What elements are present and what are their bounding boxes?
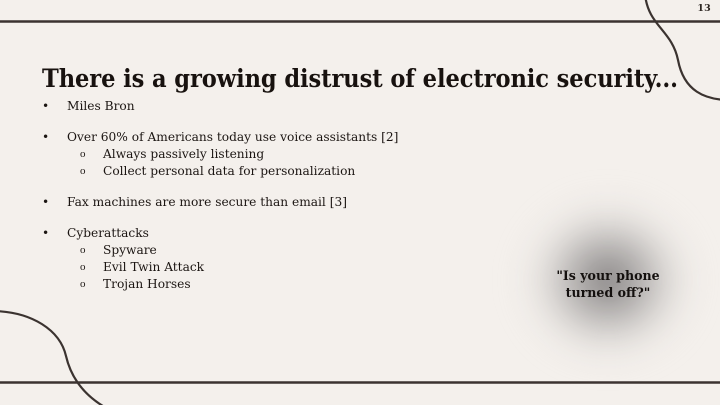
sub-bullet-marker-icon: o	[80, 242, 92, 259]
sub-list-item: o Trojan Horses	[0, 276, 520, 293]
list-item-label: Over 60% of Americans today use voice as…	[67, 130, 398, 144]
sub-list-item-label: Collect personal data for personalizatio…	[103, 164, 355, 178]
list-item-label: Miles Bron	[67, 99, 135, 113]
quote-graphic: "Is your phone turned off?"	[508, 182, 708, 378]
bullet-marker-icon: •	[42, 225, 52, 242]
sub-list-item: o Collect personal data for personalizat…	[0, 163, 520, 180]
bullet-marker-icon: •	[42, 194, 52, 211]
sub-list-item-label: Spyware	[103, 243, 157, 257]
sub-list-item: o Evil Twin Attack	[0, 259, 520, 276]
list-item: • Miles Bron	[0, 98, 520, 115]
sub-list-item-label: Evil Twin Attack	[103, 260, 204, 274]
sub-bullet-marker-icon: o	[80, 276, 92, 293]
bullet-marker-icon: •	[42, 98, 52, 115]
bullet-group: • Miles Bron	[0, 98, 520, 115]
bullet-group: • Fax machines are more secure than emai…	[0, 194, 520, 211]
sub-bullet-marker-icon: o	[80, 146, 92, 163]
sub-list-item-label: Trojan Horses	[103, 277, 191, 291]
sub-bullet-marker-icon: o	[80, 259, 92, 276]
bullet-list: • Miles Bron • Over 60% of Americans tod…	[0, 98, 520, 293]
bullet-marker-icon: •	[42, 129, 52, 146]
sub-list-item-label: Always passively listening	[103, 147, 264, 161]
slide-canvas: 13 There is a growing distrust of electr…	[0, 0, 720, 405]
bullet-group: • Over 60% of Americans today use voice …	[0, 129, 520, 180]
quote-line-1: "Is your phone	[508, 268, 708, 285]
list-item: • Cyberattacks	[0, 225, 520, 242]
list-item: • Over 60% of Americans today use voice …	[0, 129, 520, 146]
bullet-group: • Cyberattacks o Spyware o Evil Twin Att…	[0, 225, 520, 293]
list-item-label: Cyberattacks	[67, 226, 149, 240]
quote-line-2: turned off?"	[508, 285, 708, 302]
bottom-left-s-curve	[0, 311, 108, 405]
list-item: • Fax machines are more secure than emai…	[0, 194, 520, 211]
list-item-label: Fax machines are more secure than email …	[67, 195, 347, 209]
quote-text: "Is your phone turned off?"	[508, 268, 708, 301]
sub-bullet-marker-icon: o	[80, 163, 92, 180]
page-number: 13	[697, 3, 711, 14]
sub-list-item: o Always passively listening	[0, 146, 520, 163]
sub-list-item: o Spyware	[0, 242, 520, 259]
slide-title: There is a growing distrust of electroni…	[42, 64, 678, 94]
